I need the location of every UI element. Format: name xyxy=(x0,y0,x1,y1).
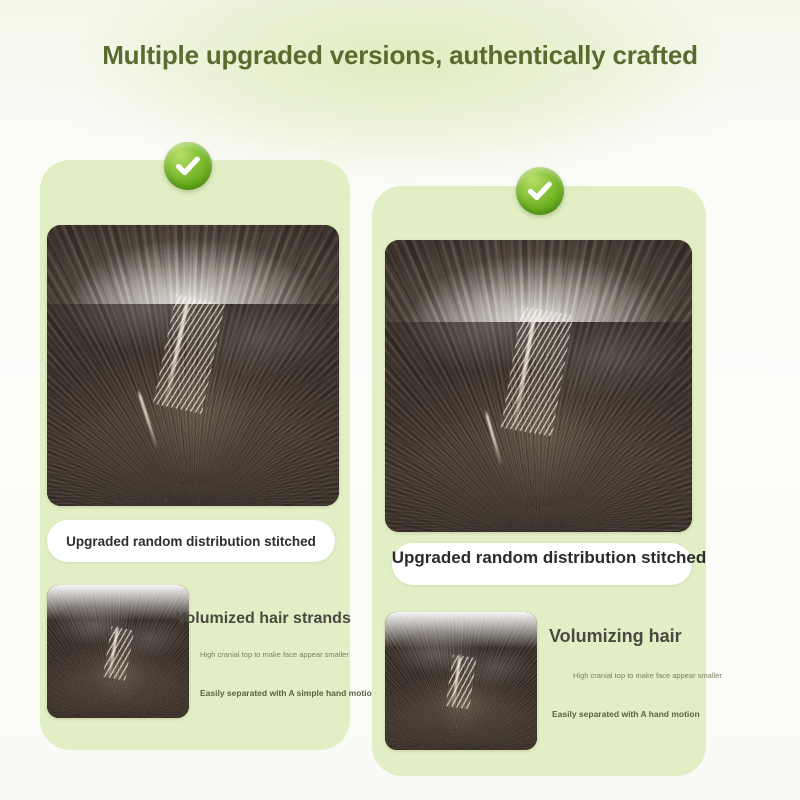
feature-line-right-2: Easily separated with A hand motion xyxy=(552,709,700,719)
feature-line-left-2: Easily separated with A simple hand moti… xyxy=(200,688,377,698)
product-promo-page: Multiple upgraded versions, authenticall… xyxy=(0,0,800,800)
page-title: Multiple upgraded versions, authenticall… xyxy=(0,40,800,71)
hair-photo-inset-left xyxy=(47,585,189,718)
hair-photo-main-left xyxy=(47,225,339,506)
feature-heading-right: Volumizing hair xyxy=(549,626,682,647)
hair-photo-inset-right xyxy=(385,612,537,750)
feature-line-right-1: High cranial top to make face appear sma… xyxy=(573,671,722,680)
feature-line-left-1: High cranial top to make face appear sma… xyxy=(200,650,349,659)
pill-label-right-text: Upgraded random distribution stitched xyxy=(382,548,716,568)
pill-label-left: Upgraded random distribution stitched xyxy=(47,520,335,562)
check-circle-icon xyxy=(164,142,212,190)
feature-heading-left: Volumized hair strands xyxy=(176,610,351,628)
check-circle-icon xyxy=(516,167,564,215)
pill-label-left-text: Upgraded random distribution stitched xyxy=(66,534,316,549)
hair-photo-main-right xyxy=(385,240,692,532)
